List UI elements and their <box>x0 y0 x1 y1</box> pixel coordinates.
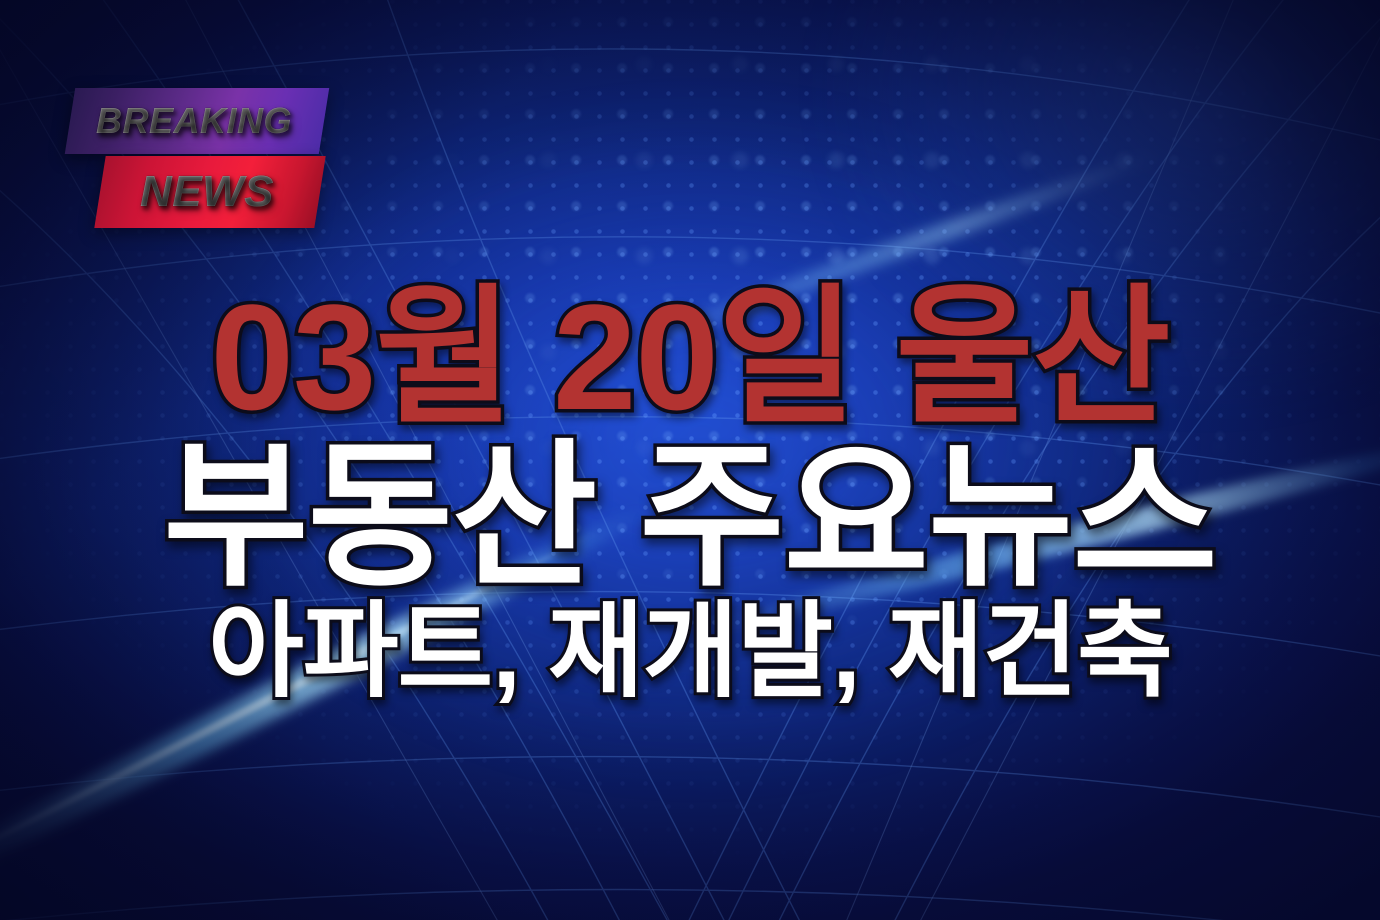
headline-line-subtitle: 아파트, 재개발, 재건축 <box>0 600 1380 704</box>
news-label: NEWS <box>140 170 274 214</box>
headline-block: 03월 20일 울산 부동산 주요뉴스 아파트, 재개발, 재건축 <box>0 282 1380 704</box>
breaking-label: BREAKING <box>96 103 292 139</box>
breaking-news-badge: BREAKING NEWS <box>56 88 356 248</box>
headline-line-date-region: 03월 20일 울산 <box>0 282 1380 432</box>
breaking-banner: BREAKING <box>65 88 329 154</box>
breaking-news-graphic: BREAKING NEWS 03월 20일 울산 부동산 주요뉴스 아파트, 재… <box>0 0 1380 920</box>
news-banner: NEWS <box>94 156 325 228</box>
headline-line-main: 부동산 주요뉴스 <box>0 438 1380 596</box>
